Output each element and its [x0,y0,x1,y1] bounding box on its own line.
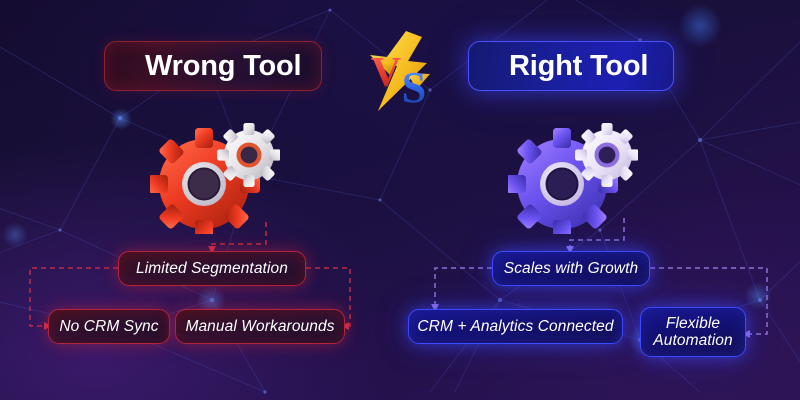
vs-lightning-badge: V S [356,30,448,112]
node-no-crm-sync[interactable]: No CRM Sync [48,309,170,344]
right-tool-label: Right Tool [509,52,648,81]
node-manual-workarounds[interactable]: Manual Workarounds [175,309,345,344]
vs-letter-s: S [402,63,426,112]
node-label: Limited Segmentation [136,260,288,277]
red-gears-icon [150,112,280,234]
node-label: No CRM Sync [59,318,158,335]
node-limited-segmentation[interactable]: Limited Segmentation [118,251,306,286]
node-label: Scales with Growth [504,260,638,277]
comparison-infographic: Wrong Tool V S [0,0,800,400]
vs-letter-v: V [371,50,401,96]
right-tool-header-pill[interactable]: Right Tool [468,41,674,91]
node-label: Manual Workarounds [185,318,334,335]
node-flexible-automation[interactable]: Flexible Automation [640,307,746,357]
purple-gears-icon [508,112,638,234]
wrong-tool-header-pill[interactable]: Wrong Tool [104,41,322,91]
node-crm-analytics-connected[interactable]: CRM + Analytics Connected [408,309,623,344]
node-scales-with-growth[interactable]: Scales with Growth [492,251,650,286]
node-label: Flexible Automation [653,315,732,350]
wrong-tool-label: Wrong Tool [145,52,301,81]
node-label: CRM + Analytics Connected [417,318,613,335]
